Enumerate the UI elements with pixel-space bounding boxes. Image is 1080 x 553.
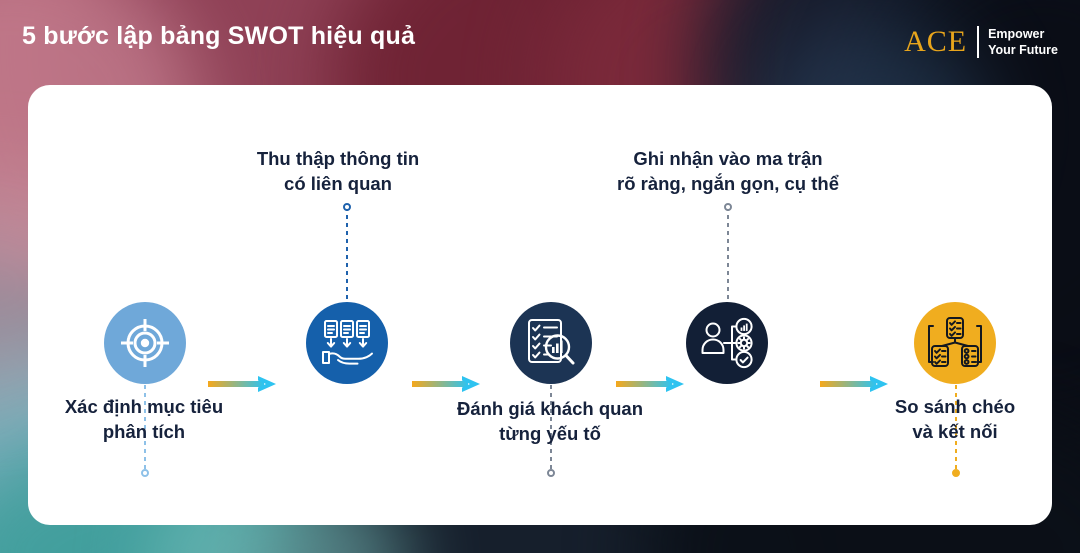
step-5-connector-dot bbox=[952, 469, 960, 477]
arrow-1-2 bbox=[208, 375, 282, 393]
step-3-caption-line2: từng yếu tố bbox=[410, 422, 690, 447]
step-1-caption-line2: phân tích bbox=[19, 420, 269, 445]
step-4-caption: Ghi nhận vào ma trận rõ ràng, ngắn gọn, … bbox=[583, 147, 873, 196]
arrow-right-icon bbox=[820, 375, 894, 393]
arrow-right-icon bbox=[412, 375, 486, 393]
arrow-right-icon bbox=[208, 375, 282, 393]
person-process-nodes-icon bbox=[700, 317, 754, 369]
step-1-node[interactable] bbox=[104, 302, 186, 384]
arrow-3-4 bbox=[616, 375, 690, 393]
arrow-4-5 bbox=[820, 375, 894, 393]
step-1-caption: Xác định mục tiêu phân tích bbox=[19, 395, 269, 444]
linked-checklist-cards-icon bbox=[928, 316, 982, 370]
step-3-connector-dot bbox=[547, 469, 555, 477]
page-title: 5 bước lập bảng SWOT hiệu quả bbox=[22, 22, 415, 51]
step-4-circle[interactable] bbox=[686, 302, 768, 384]
logo-wordmark: ACE bbox=[904, 27, 977, 57]
step-3-node[interactable] bbox=[510, 302, 592, 384]
step-4-caption-line2: rõ ràng, ngắn gọn, cụ thể bbox=[583, 172, 873, 197]
logo-tagline-line1: Empower bbox=[988, 26, 1058, 42]
step-3-caption: Đánh giá khách quan từng yếu tố bbox=[410, 397, 690, 446]
step-5-caption-line2: và kết nối bbox=[855, 420, 1055, 445]
step-4-node[interactable] bbox=[686, 302, 768, 384]
step-4-caption-line1: Ghi nhận vào ma trận bbox=[583, 147, 873, 172]
step-5-node[interactable] bbox=[914, 302, 996, 384]
documents-to-hand-icon bbox=[320, 316, 374, 370]
header: 5 bước lập bảng SWOT hiệu quả ACE Empowe… bbox=[0, 0, 1080, 88]
step-3-caption-line1: Đánh giá khách quan bbox=[410, 397, 690, 422]
arrow-2-3 bbox=[412, 375, 486, 393]
logo-tagline: Empower Your Future bbox=[988, 26, 1058, 58]
step-2-circle[interactable] bbox=[306, 302, 388, 384]
step-2-connector-dot bbox=[343, 203, 351, 211]
content-card: Thu thập thông tin có liên quan Ghi nhận… bbox=[28, 85, 1052, 525]
logo-tagline-line2: Your Future bbox=[988, 42, 1058, 58]
step-5-caption-line1: So sánh chéo bbox=[855, 395, 1055, 420]
step-5-circle[interactable] bbox=[914, 302, 996, 384]
step-2-node[interactable] bbox=[306, 302, 388, 384]
step-2-caption-line1: Thu thập thông tin bbox=[203, 147, 473, 172]
step-1-connector-dot bbox=[141, 469, 149, 477]
step-1-circle[interactable] bbox=[104, 302, 186, 384]
step-1-caption-line1: Xác định mục tiêu bbox=[19, 395, 269, 420]
target-icon bbox=[119, 317, 171, 369]
step-3-circle[interactable] bbox=[510, 302, 592, 384]
arrow-right-icon bbox=[616, 375, 690, 393]
step-4-connector-dot bbox=[724, 203, 732, 211]
step-2-caption: Thu thập thông tin có liên quan bbox=[203, 147, 473, 196]
brand-logo: ACE Empower Your Future bbox=[904, 22, 1058, 62]
step-2-caption-line2: có liên quan bbox=[203, 172, 473, 197]
logo-divider bbox=[977, 26, 979, 58]
process-flow-diagram: Thu thập thông tin có liên quan Ghi nhận… bbox=[28, 85, 1052, 525]
checklist-magnifier-chart-icon bbox=[525, 317, 577, 369]
step-5-caption: So sánh chéo và kết nối bbox=[855, 395, 1055, 444]
